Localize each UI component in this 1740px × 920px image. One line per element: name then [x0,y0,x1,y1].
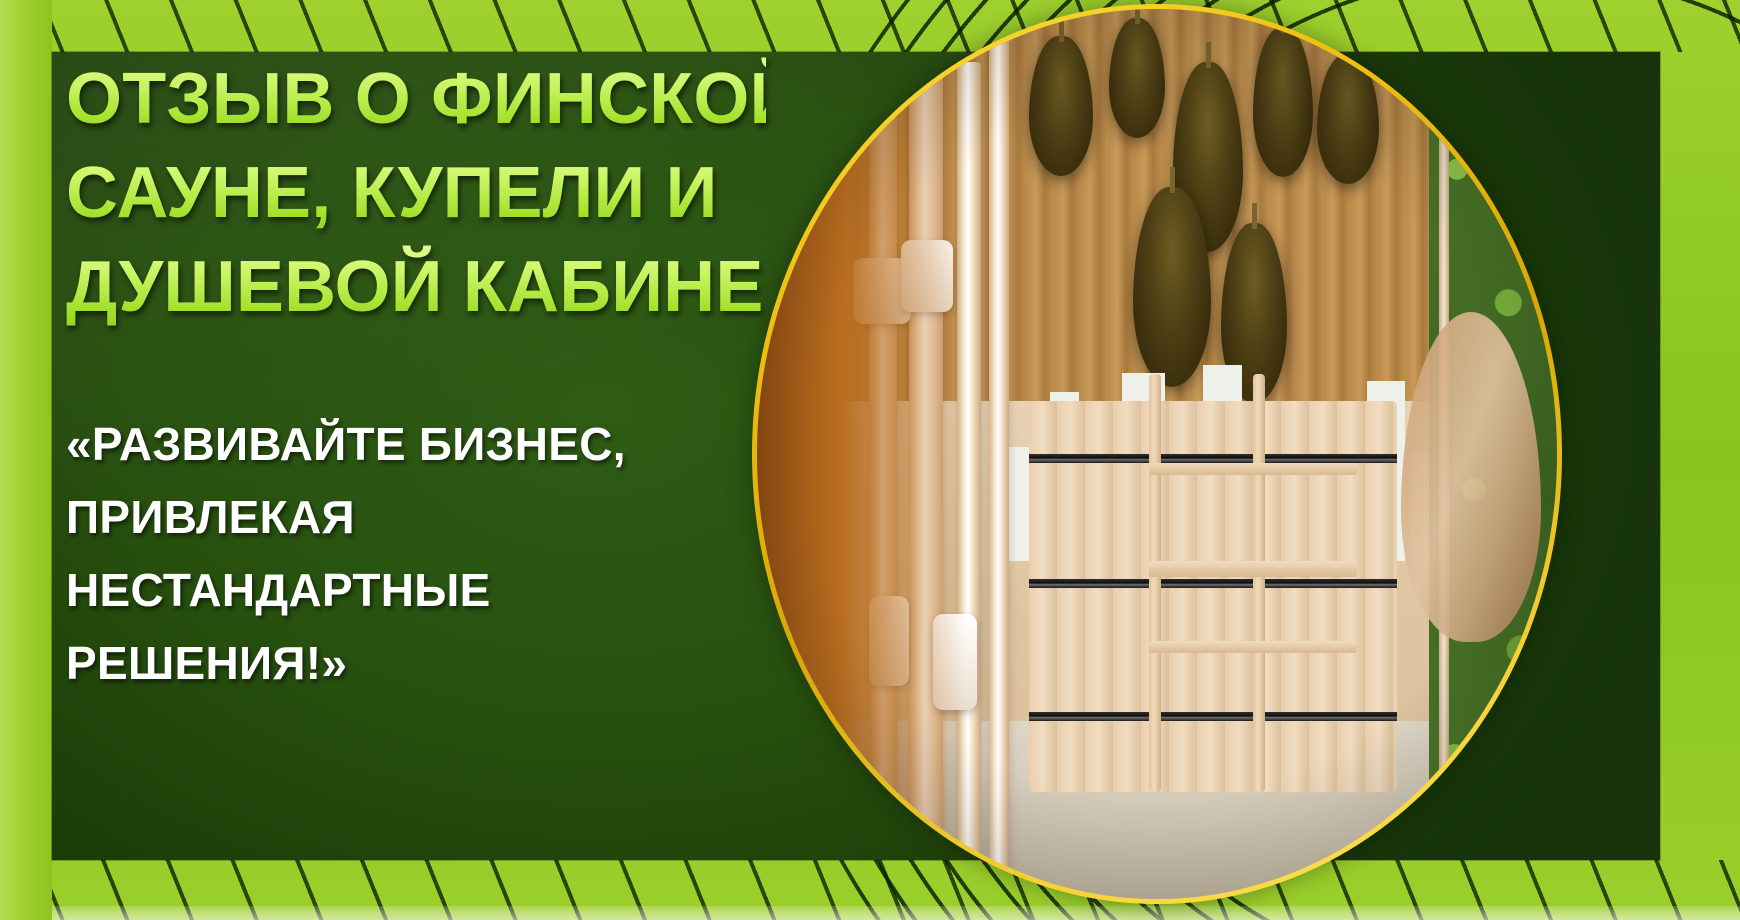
title-line-2: САУНЕ, КУПЕЛИ И [66,146,766,240]
subtitle-quote: «РАЗВИВАЙТЕ БИЗНЕС, ПРИВЛЕКАЯ НЕСТАНДАРТ… [66,408,766,700]
photo-vignette [757,9,1557,899]
subtitle-line-2: ПРИВЛЕКАЯ [66,481,766,554]
subtitle-line-4: РЕШЕНИЯ!» [66,627,766,700]
frame-left-edge [0,0,52,920]
page-title: ОТЗЫВ О ФИНСКОЙ САУНЕ, КУПЕЛИ И ДУШЕВОЙ … [66,52,766,334]
circular-photo-frame [752,4,1562,904]
banner-root: ОТЗЫВ О ФИНСКОЙ САУНЕ, КУПЕЛИ И ДУШЕВОЙ … [0,0,1740,920]
subtitle-line-1: «РАЗВИВАЙТЕ БИЗНЕС, [66,408,766,481]
sauna-photo [757,9,1557,899]
subtitle-line-3: НЕСТАНДАРТНЫЕ [66,554,766,627]
title-line-3: ДУШЕВОЙ КАБИНЕ [66,240,766,334]
title-line-1: ОТЗЫВ О ФИНСКОЙ [66,52,766,146]
